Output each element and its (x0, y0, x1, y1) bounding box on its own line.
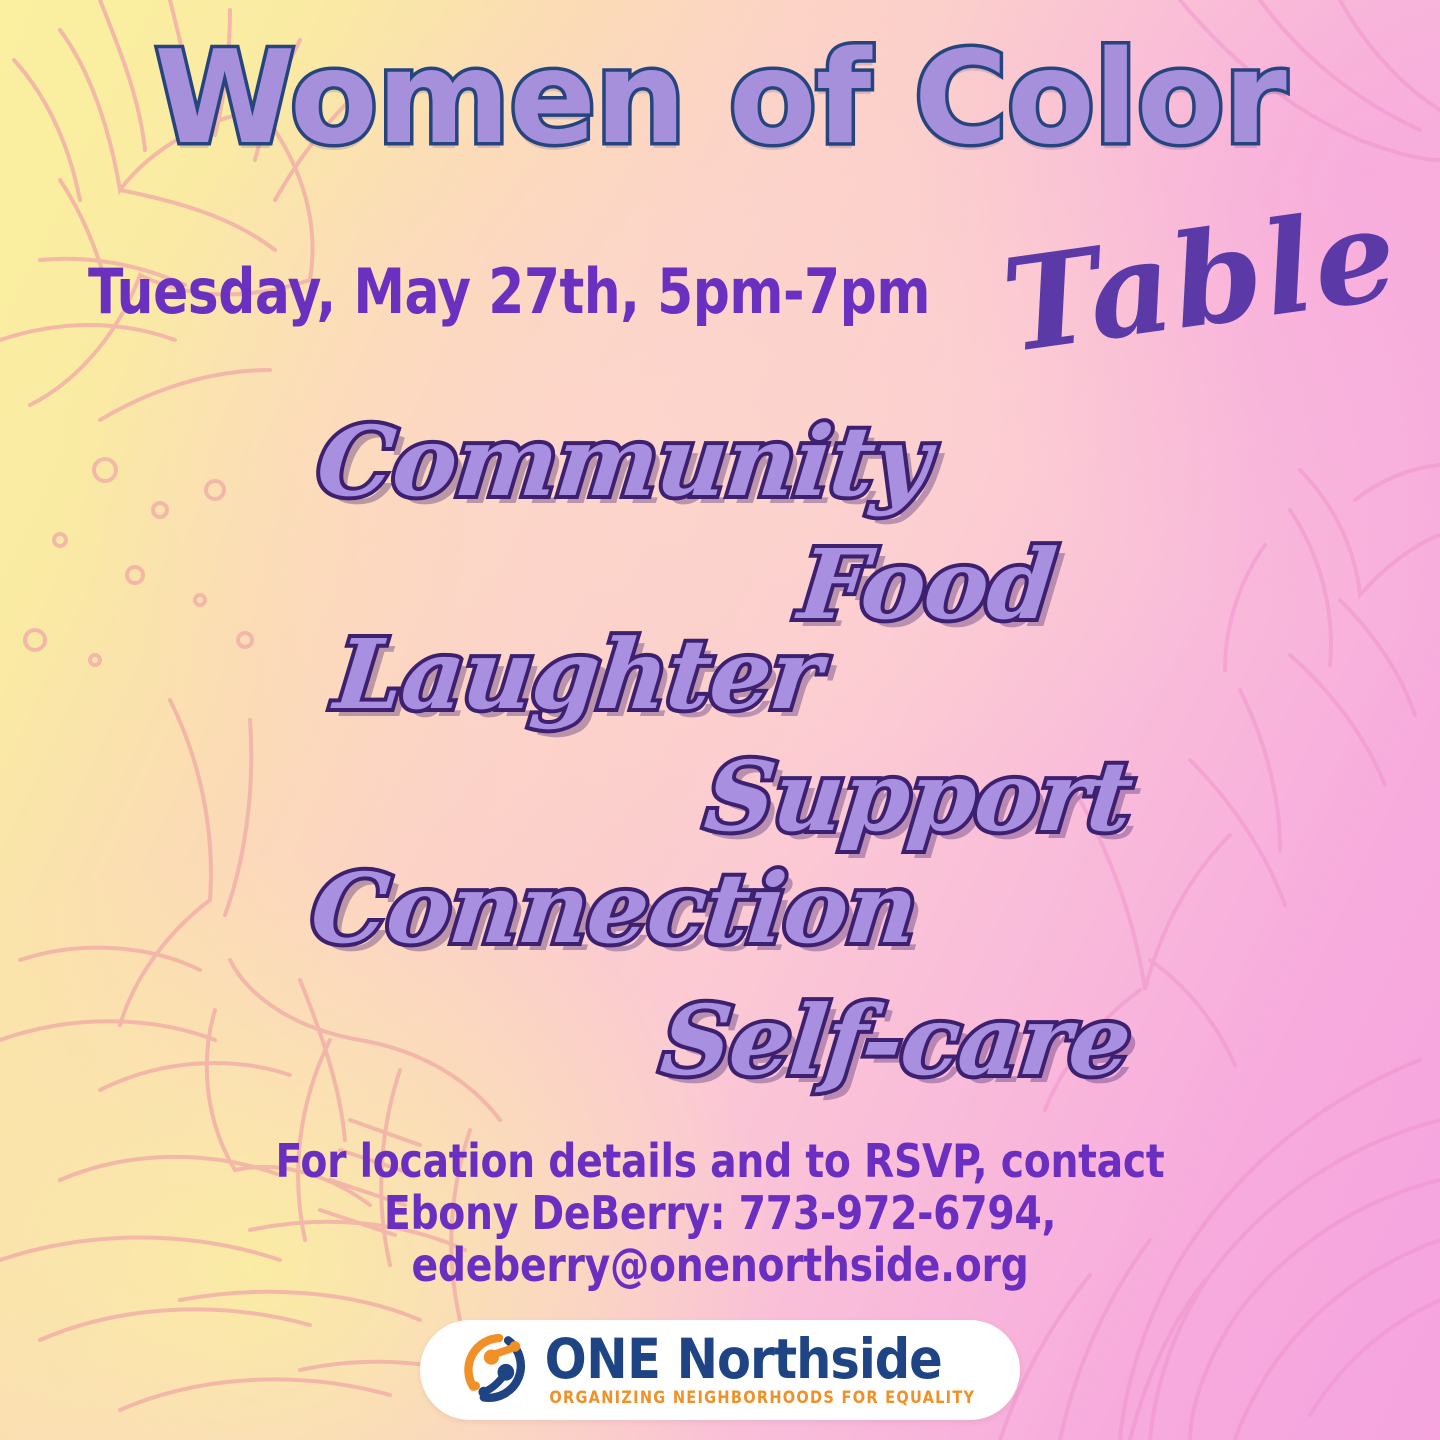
keyword-connection: Connection (306, 852, 922, 965)
contact-email: edeberry@onenorthside.org (150, 1240, 1290, 1292)
keyword-food: Food (794, 528, 1060, 641)
contact-line-1: For location details and to RSVP, contac… (150, 1136, 1290, 1188)
keyword-support: Support (700, 740, 1137, 853)
poster-canvas: Women of Color Women of Color Table Tues… (0, 0, 1440, 1440)
keyword-self-care: Self-care (656, 984, 1136, 1097)
logo-name-northside: Northside (660, 1327, 941, 1391)
logo-name: ONE Northside (545, 1333, 942, 1387)
organization-logo: ONE Northside ORGANIZING NEIGHBORHOODS F… (420, 1320, 1020, 1420)
logo-wordmark: ONE Northside ORGANIZING NEIGHBORHOODS F… (545, 1333, 980, 1408)
logo-name-one: ONE (545, 1327, 661, 1391)
keyword-laughter: Laughter (330, 618, 826, 731)
contact-line-2: Ebony DeBerry: 773-972-6794, (150, 1188, 1290, 1240)
contact-block: For location details and to RSVP, contac… (120, 1136, 1320, 1292)
logo-tagline: ORGANIZING NEIGHBORHOODS FOR EQUALITY (549, 1388, 975, 1407)
keyword-community: Community (312, 405, 935, 518)
one-northside-circle-logo-icon (461, 1332, 537, 1408)
